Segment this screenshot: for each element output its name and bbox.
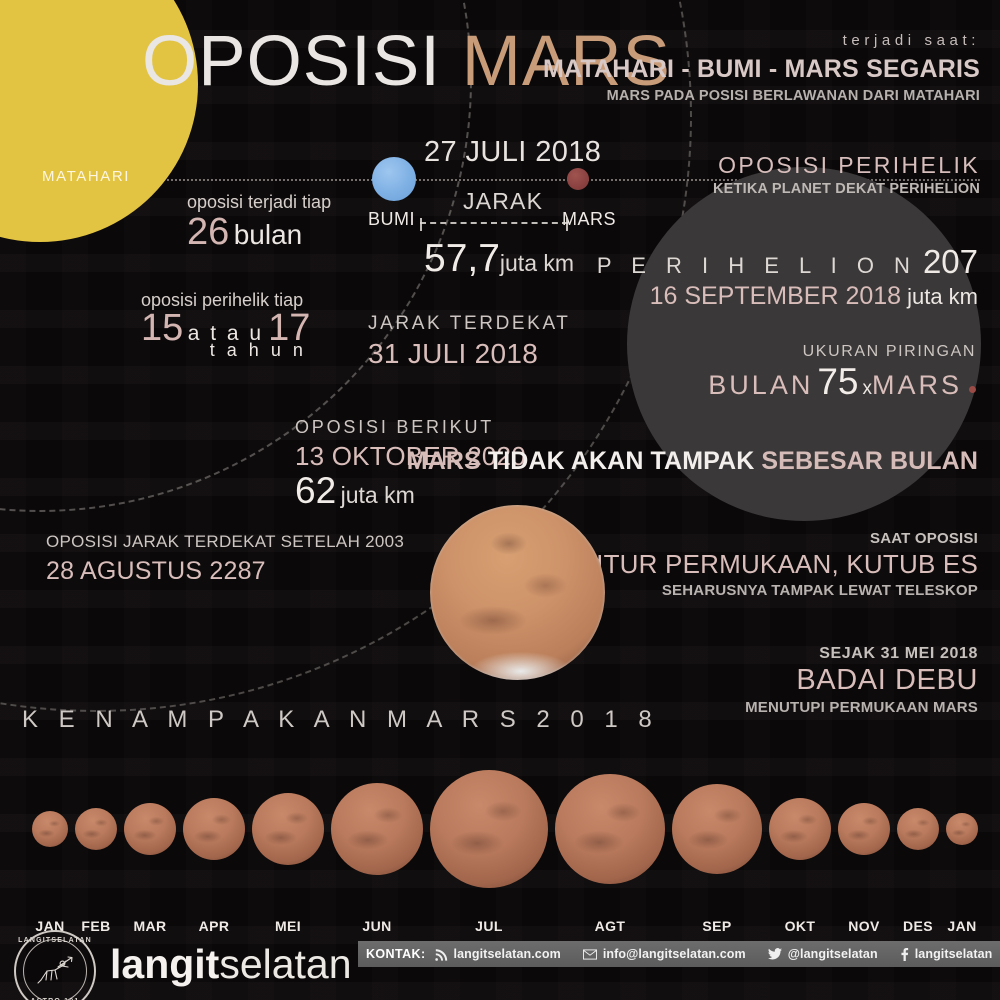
opposition-period-caption: oposisi terjadi tiap: [187, 192, 331, 213]
next-opposition-distance-row: 62 juta km: [295, 470, 526, 512]
brand-part-selatan: selatan: [219, 941, 351, 987]
appearance-section-title: K E N A M P A K A N M A R S 2 0 1 8: [22, 706, 659, 734]
distance-value-group: 57,7juta km: [424, 237, 574, 281]
perihelic-years-first: 15: [141, 307, 183, 349]
mars-planet-dot: [567, 168, 589, 190]
perihelion-block: P E R I H E L I O N207 16 SEPTEMBER 2018…: [597, 243, 978, 311]
mars-size-timeline: JANFEBMARAPRMEIJUNJULAGTSEPOKTNOVDESJAN: [40, 756, 970, 906]
myth-statement: MARS TIDAK AKAN TAMPAK SEBESAR BULAN: [407, 447, 978, 476]
perihelic-opposition-heading: OPOSISI PERIHELIK KETIKA PLANET DEKAT PE…: [713, 152, 980, 197]
closest-distance-caption: JARAK TERDEKAT: [368, 313, 571, 335]
opposition-definition-block: terjadi saat: MATAHARI - BUMI - MARS SEG…: [543, 32, 980, 104]
facebook-icon: [900, 948, 909, 961]
month-item: NOV: [838, 788, 890, 906]
langitselatan-badge-logo: LANGITSELATAN ASTRO 101: [14, 930, 96, 1000]
closest-distance-date: 31 JULI 2018: [368, 338, 571, 370]
mars-globe-sep-8: [672, 784, 762, 874]
distance-label: JARAK: [463, 188, 543, 215]
mars-label: MARS: [562, 209, 616, 230]
twitter-icon: [768, 948, 782, 960]
mars-globe-jan-0: [32, 811, 68, 847]
closest-distance-block: JARAK TERDEKAT 31 JULI 2018: [368, 313, 571, 370]
distance-number: 57,7: [424, 237, 500, 280]
envelope-icon: [583, 949, 597, 960]
month-item: OKT: [769, 788, 831, 906]
surface-features-caption: SAAT OPOSISI: [580, 530, 978, 547]
perihelion-date: 16 SEPTEMBER 2018: [650, 282, 902, 310]
month-item: FEB: [75, 788, 117, 906]
perihelion-row-two: 16 SEPTEMBER 2018juta km: [597, 282, 978, 311]
contact-item[interactable]: langitselatan.com: [435, 947, 561, 961]
contact-bar: KONTAK: langitselatan.cominfo@langitsela…: [358, 941, 1000, 967]
disk-size-block: UKURAN PIRINGAN BULAN75xMARS: [708, 343, 976, 403]
perihelic-opposition-title: OPOSISI PERIHELIK: [713, 152, 980, 179]
surface-features-value: FITUR PERMUKAAN, KUTUB ES: [580, 549, 978, 580]
infographic-poster: MATAHARI OPOSISI MARS terjadi saat: MATA…: [0, 0, 1000, 1000]
perihelion-label: P E R I H E L I O N: [597, 253, 917, 278]
rss-icon: [435, 948, 448, 961]
contact-item[interactable]: @langitselatan: [768, 947, 878, 961]
dust-storm-sub: MENUTUPI PERMUKAAN MARS: [745, 699, 978, 716]
disk-size-factor: 75: [817, 361, 858, 402]
mars-globe-jan-12: [946, 813, 978, 845]
month-item: APR: [183, 788, 245, 906]
mars-globe-mei-4: [252, 793, 324, 865]
surface-features-sub: SEHARUSNYA TAMPAK LEWAT TELESKOP: [580, 582, 978, 599]
contact-text: langitselatan.com: [454, 947, 561, 961]
sagittarius-centaur-icon: [35, 954, 75, 988]
record-opposition-caption: OPOSISI JARAK TERDEKAT SETELAH 2003: [46, 532, 404, 552]
definition-main: MATAHARI - BUMI - MARS SEGARIS: [543, 55, 980, 84]
brand-part-langit: langit: [110, 941, 219, 987]
month-item: MAR: [124, 788, 176, 906]
mars-globe-jul-6: [430, 770, 548, 888]
opposition-date: 27 JULI 2018: [424, 136, 601, 169]
month-item: DES: [897, 788, 939, 906]
next-opposition-distance-unit: juta km: [341, 482, 415, 508]
perihelion-row-one: P E R I H E L I O N207: [597, 243, 978, 281]
month-item: JAN: [946, 788, 978, 906]
perihelic-period-block: oposisi perihelik tiap 15 a t a u 17 t a…: [141, 290, 310, 361]
mars-globe-apr-3: [183, 798, 245, 860]
opposition-period-number: 26: [187, 211, 229, 253]
disk-size-caption: UKURAN PIRINGAN: [708, 343, 976, 361]
distance-unit: juta km: [500, 250, 574, 276]
mars-globe-jun-5: [331, 783, 423, 875]
perihelion-distance-unit: juta km: [907, 284, 978, 309]
perihelion-distance-number: 207: [923, 243, 978, 280]
contact-text: langitselatan: [915, 947, 993, 961]
disk-size-times: x: [862, 378, 872, 399]
sun-label: MATAHARI: [42, 168, 130, 185]
opposition-period-row: 26 bulan: [187, 211, 331, 254]
myth-part-bold: TIDAK AKAN TAMPAK: [488, 447, 754, 475]
mars-tiny-dot-icon: [969, 386, 976, 393]
surface-features-block: SAAT OPOSISI FITUR PERMUKAAN, KUTUB ES S…: [580, 530, 978, 599]
month-item: AGT: [555, 788, 665, 906]
month-item: JUL: [430, 788, 548, 906]
dust-storm-value: BADAI DEBU: [745, 664, 978, 697]
contact-text: info@langitselatan.com: [603, 947, 746, 961]
record-opposition-date: 28 AGUSTUS 2287: [46, 557, 404, 586]
contact-label: KONTAK:: [366, 947, 426, 961]
month-item: SEP: [672, 788, 762, 906]
badge-top-text: LANGITSELATAN: [16, 937, 94, 944]
mars-telescope-image: [430, 505, 605, 680]
mars-globe-feb-1: [75, 808, 117, 850]
earth-label: BUMI: [368, 209, 415, 230]
definition-sub: MARS PADA POSISI BERLAWANAN DARI MATAHAR…: [543, 88, 980, 104]
contact-item[interactable]: langitselatan: [900, 947, 993, 961]
next-opposition-caption: OPOSISI BERIKUT: [295, 417, 526, 438]
brand-wordmark: langitselatan: [110, 944, 352, 985]
disk-size-row: BULAN75xMARS: [708, 361, 976, 403]
distance-measure-bar: [420, 222, 568, 224]
month-item: JAN: [32, 788, 68, 906]
title-part-oposisi: OPOSISI: [142, 22, 441, 101]
contact-item[interactable]: info@langitselatan.com: [583, 947, 746, 961]
disk-size-mars: MARS: [872, 370, 962, 400]
myth-part-two: SEBESAR BULAN: [754, 447, 978, 475]
month-item: MEI: [252, 788, 324, 906]
dust-storm-caption: SEJAK 31 MEI 2018: [745, 645, 978, 663]
opposition-period-word: bulan: [234, 219, 303, 250]
month-item: JUN: [331, 788, 423, 906]
mars-globe-mar-2: [124, 803, 176, 855]
earth-planet-dot: [372, 157, 416, 201]
dust-storm-block: SEJAK 31 MEI 2018 BADAI DEBU MENUTUPI PE…: [745, 645, 978, 716]
myth-part-one: MARS: [407, 447, 488, 475]
mars-globe-okt-9: [769, 798, 831, 860]
mars-globe-des-11: [897, 808, 939, 850]
record-opposition-block: OPOSISI JARAK TERDEKAT SETELAH 2003 28 A…: [46, 532, 404, 586]
perihelic-opposition-sub: KETIKA PLANET DEKAT PERIHELION: [713, 181, 980, 197]
opposition-period-block: oposisi terjadi tiap 26 bulan: [187, 192, 331, 254]
contact-text: @langitselatan: [788, 947, 878, 961]
mars-globe-nov-10: [838, 803, 890, 855]
definition-kicker: terjadi saat:: [543, 32, 980, 49]
disk-size-moon: BULAN: [708, 370, 813, 400]
mars-globe-agt-7: [555, 774, 665, 884]
next-opposition-distance-number: 62: [295, 470, 336, 511]
